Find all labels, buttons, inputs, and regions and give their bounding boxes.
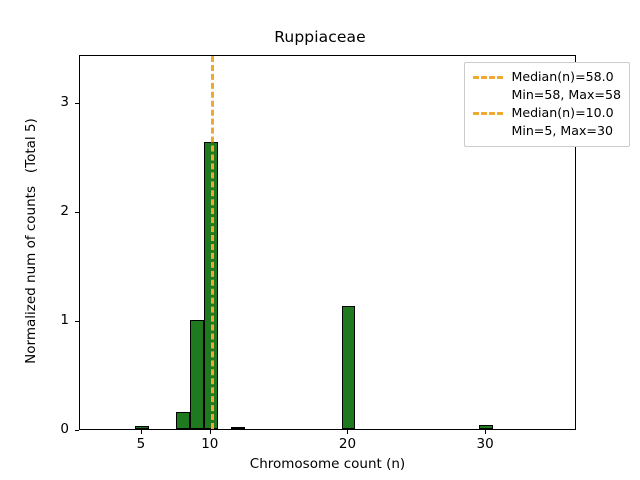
y-tick-label: 2 xyxy=(41,203,69,219)
legend-entry: Min=58, Max=58 xyxy=(473,86,621,104)
median-line-10 xyxy=(211,56,214,429)
bar xyxy=(342,306,356,429)
legend-label: Median(n)=58.0 xyxy=(511,68,613,86)
y-tick-label: 0 xyxy=(41,421,69,437)
matplotlib-figure: Ruppiaceae 5102030 0123 Chromosome count… xyxy=(0,0,640,480)
legend-entry: Min=5, Max=30 xyxy=(473,122,621,140)
x-tick-label: 20 xyxy=(317,436,377,452)
legend-label: Min=5, Max=30 xyxy=(511,122,613,140)
x-tick-mark xyxy=(347,430,348,434)
y-tick-mark xyxy=(75,430,79,431)
legend: Median(n)=58.0Min=58, Max=58Median(n)=10… xyxy=(464,62,630,147)
bar xyxy=(479,425,493,429)
x-tick-label: 10 xyxy=(180,436,240,452)
x-tick-label: 5 xyxy=(111,436,171,452)
legend-entry: Median(n)=58.0 xyxy=(473,68,621,86)
x-tick-label: 30 xyxy=(455,436,515,452)
legend-dashed-line-icon xyxy=(473,76,503,79)
y-tick-mark xyxy=(75,321,79,322)
bar xyxy=(135,426,149,429)
x-tick-mark xyxy=(141,430,142,434)
legend-label: Min=58, Max=58 xyxy=(511,86,621,104)
y-tick-label: 3 xyxy=(41,94,69,110)
x-tick-mark xyxy=(210,430,211,434)
bar xyxy=(190,320,204,429)
legend-label: Median(n)=10.0 xyxy=(511,104,613,122)
legend-dashed-line-icon xyxy=(473,112,503,115)
y-tick-label: 1 xyxy=(41,312,69,328)
chart-title: Ruppiaceae xyxy=(0,28,640,46)
bar xyxy=(231,427,245,429)
x-tick-mark xyxy=(485,430,486,434)
y-axis-label: Normalized num of counts (Total 5) xyxy=(23,41,41,441)
x-axis-label: Chromosome count (n) xyxy=(79,456,576,472)
legend-entry: Median(n)=10.0 xyxy=(473,104,621,122)
y-tick-mark xyxy=(75,103,79,104)
y-tick-mark xyxy=(75,212,79,213)
bar xyxy=(176,412,190,429)
